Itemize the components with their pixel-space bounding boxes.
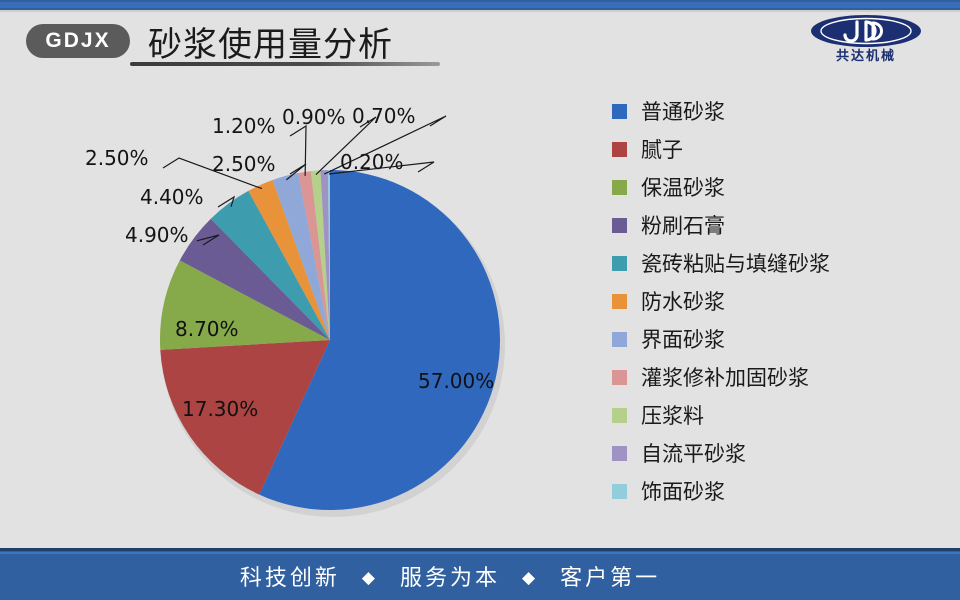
logo-company-name: 共达机械 <box>796 45 936 64</box>
chart-legend: 普通砂浆腻子保温砂浆粉刷石膏瓷砖粘贴与填缝砂浆防水砂浆界面砂浆灌浆修补加固砂浆压… <box>612 92 942 510</box>
pie-data-label: 17.30% <box>182 397 258 421</box>
footer-slogan-2: 服务为本 <box>400 566 500 591</box>
legend-item[interactable]: 普通砂浆 <box>612 92 942 130</box>
pie-data-label: 2.50% <box>85 146 149 170</box>
pie-data-label: 57.00% <box>418 369 494 393</box>
pie-data-label: 8.70% <box>175 317 239 341</box>
legend-item-label: 腻子 <box>641 134 683 164</box>
footer-topline-light <box>0 552 960 554</box>
legend-item-label: 饰面砂浆 <box>641 476 725 506</box>
footer-slogan-3: 客户第一 <box>560 566 660 591</box>
legend-item-label: 灌浆修补加固砂浆 <box>641 362 809 392</box>
legend-swatch-icon <box>612 104 627 119</box>
legend-item-label: 瓷砖粘贴与填缝砂浆 <box>641 248 830 278</box>
legend-swatch-icon <box>612 294 627 309</box>
diamond-icon-1: ◆ <box>362 568 378 588</box>
legend-item-label: 保温砂浆 <box>641 172 725 202</box>
legend-swatch-icon <box>612 180 627 195</box>
brand-badge: GDJX <box>26 24 130 58</box>
legend-item-label: 界面砂浆 <box>641 324 725 354</box>
pie-data-label: 2.50% <box>212 152 276 176</box>
page-title: 砂浆使用量分析 <box>148 17 393 66</box>
logo-ellipse-icon <box>810 14 922 48</box>
footer-bar: 科技创新 ◆ 服务为本 ◆ 客户第一 <box>0 548 960 600</box>
footer-slogan-1: 科技创新 <box>240 566 340 591</box>
pie-chart: 57.00%17.30%8.70%4.90%4.40%2.50%2.50%1.2… <box>0 72 600 542</box>
legend-swatch-icon <box>612 370 627 385</box>
legend-swatch-icon <box>612 408 627 423</box>
pie-data-label: 4.90% <box>125 223 189 247</box>
legend-item-label: 自流平砂浆 <box>641 438 746 468</box>
legend-item[interactable]: 保温砂浆 <box>612 168 942 206</box>
legend-item[interactable]: 灌浆修补加固砂浆 <box>612 358 942 396</box>
legend-item[interactable]: 粉刷石膏 <box>612 206 942 244</box>
legend-item[interactable]: 瓷砖粘贴与填缝砂浆 <box>612 244 942 282</box>
footer-slogan: 科技创新 ◆ 服务为本 ◆ 客户第一 <box>0 560 960 592</box>
pie-data-label: 0.70% <box>352 104 416 128</box>
legend-item-label: 压浆料 <box>641 400 704 430</box>
legend-item[interactable]: 防水砂浆 <box>612 282 942 320</box>
legend-item[interactable]: 自流平砂浆 <box>612 434 942 472</box>
brand-badge-label: GDJX <box>45 29 110 53</box>
legend-swatch-icon <box>612 142 627 157</box>
pie-data-label: 0.90% <box>282 105 346 129</box>
pie-data-label: 4.40% <box>140 185 204 209</box>
legend-item[interactable]: 压浆料 <box>612 396 942 434</box>
legend-item[interactable]: 腻子 <box>612 130 942 168</box>
legend-item-label: 粉刷石膏 <box>641 210 725 240</box>
slide-canvas: GDJX 砂浆使用量分析 共达机械 57.00%17.30%8.70%4.90%… <box>0 0 960 600</box>
legend-swatch-icon <box>612 332 627 347</box>
company-logo: 共达机械 <box>796 12 936 68</box>
footer-topline-dark <box>0 548 960 551</box>
legend-item-label: 防水砂浆 <box>641 286 725 316</box>
title-underline-rule <box>130 62 440 66</box>
pie-chart-svg <box>0 72 600 542</box>
pie-data-label: 1.20% <box>212 114 276 138</box>
legend-swatch-icon <box>612 218 627 233</box>
legend-swatch-icon <box>612 256 627 271</box>
legend-item[interactable]: 界面砂浆 <box>612 320 942 358</box>
diamond-icon-2: ◆ <box>522 568 538 588</box>
pie-data-label: 0.20% <box>340 150 404 174</box>
legend-item-label: 普通砂浆 <box>641 96 725 126</box>
legend-item[interactable]: 饰面砂浆 <box>612 472 942 510</box>
legend-swatch-icon <box>612 446 627 461</box>
legend-swatch-icon <box>612 484 627 499</box>
top-accent-bar-inner <box>0 2 960 8</box>
